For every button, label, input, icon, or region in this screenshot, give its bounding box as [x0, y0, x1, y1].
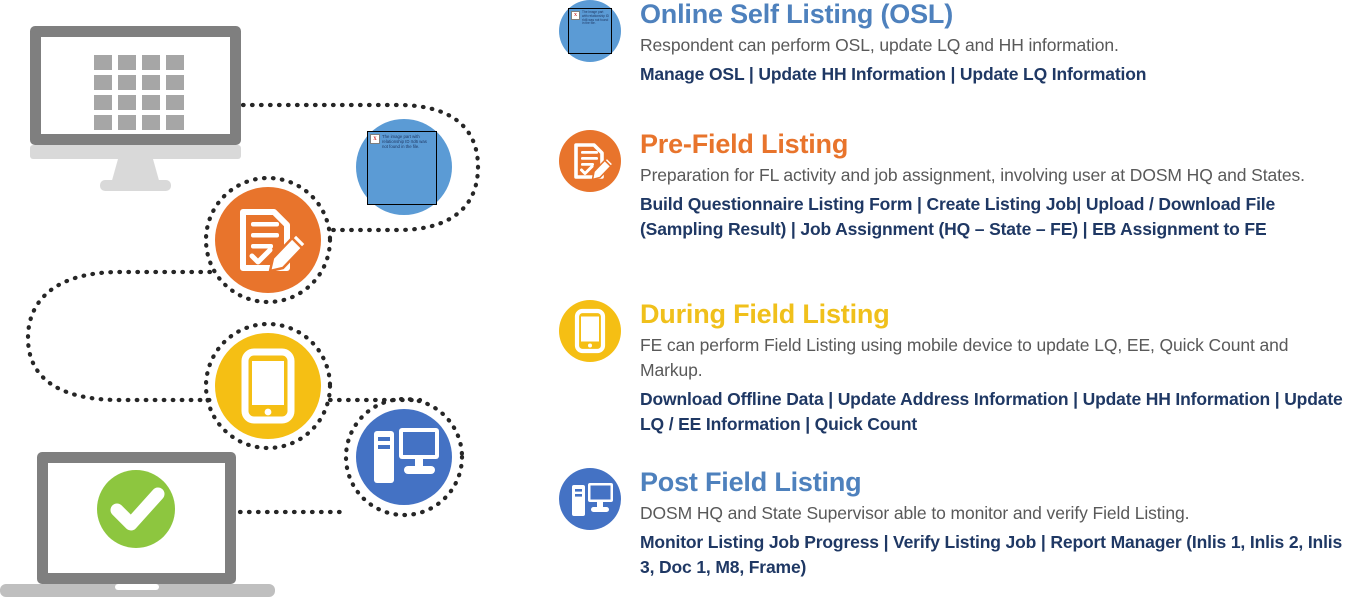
section-body: During Field Listing FE can perform Fiel… — [640, 298, 1351, 437]
section-icon-wrap — [540, 298, 640, 362]
section-description: DOSM HQ and State Supervisor able to mon… — [640, 501, 1347, 526]
broken-image-icon: x The image part with relationship ID rI… — [559, 0, 621, 62]
broken-image-message: The image part with relationship ID rId6… — [382, 134, 434, 150]
section-links[interactable]: Manage OSL | Update HH Information | Upd… — [640, 62, 1347, 87]
laptop-check-icon — [0, 452, 275, 597]
section-title: Online Self Listing (OSL) — [640, 0, 1347, 31]
section-links[interactable]: Build Questionnaire Listing Form | Creat… — [640, 192, 1347, 242]
pre-field-listing-node — [215, 187, 321, 293]
field-listing-flow-illustration: x The image part with relationship ID rI… — [0, 0, 540, 604]
section-icon-wrap: x The image part with relationship ID rI… — [540, 0, 640, 62]
section-description: Preparation for FL activity and job assi… — [640, 163, 1347, 188]
sections-list: x The image part with relationship ID rI… — [540, 0, 1351, 604]
desktop-monitor-icon — [30, 26, 241, 191]
section-description: Respondent can perform OSL, update LQ an… — [640, 33, 1347, 58]
section-icon-wrap — [540, 128, 640, 192]
section-during-field-listing: During Field Listing FE can perform Fiel… — [540, 298, 1351, 437]
document-pencil-icon — [559, 130, 621, 192]
section-body: Online Self Listing (OSL) Respondent can… — [640, 0, 1351, 87]
section-icon-wrap — [540, 466, 640, 530]
broken-image-x-marker: x — [370, 134, 380, 144]
post-field-listing-node — [356, 409, 452, 505]
section-title: Post Field Listing — [640, 466, 1347, 499]
section-pre-field-listing: Pre-Field Listing Preparation for FL act… — [540, 128, 1351, 242]
mobile-device-icon — [559, 300, 621, 362]
section-online-self-listing: x The image part with relationship ID rI… — [540, 0, 1351, 87]
during-field-listing-node — [215, 333, 321, 439]
broken-image-placeholder-section: x The image part with relationship ID rI… — [568, 8, 612, 54]
section-post-field-listing: Post Field Listing DOSM HQ and State Sup… — [540, 466, 1351, 580]
section-title: During Field Listing — [640, 298, 1347, 331]
section-body: Post Field Listing DOSM HQ and State Sup… — [640, 466, 1351, 580]
section-title: Pre-Field Listing — [640, 128, 1347, 161]
broken-image-message: The image part with relationship ID rId6… — [582, 11, 609, 26]
section-description: FE can perform Field Listing using mobil… — [640, 333, 1347, 383]
desktop-computer-icon — [559, 468, 621, 530]
field-listing-overview-page: x The image part with relationship ID rI… — [0, 0, 1351, 604]
section-body: Pre-Field Listing Preparation for FL act… — [640, 128, 1351, 242]
section-links[interactable]: Download Offline Data | Update Address I… — [640, 387, 1347, 437]
broken-image-x-marker: x — [571, 11, 580, 20]
broken-image-placeholder-illustration: x The image part with relationship ID rI… — [367, 131, 437, 205]
section-links[interactable]: Monitor Listing Job Progress | Verify Li… — [640, 530, 1347, 580]
